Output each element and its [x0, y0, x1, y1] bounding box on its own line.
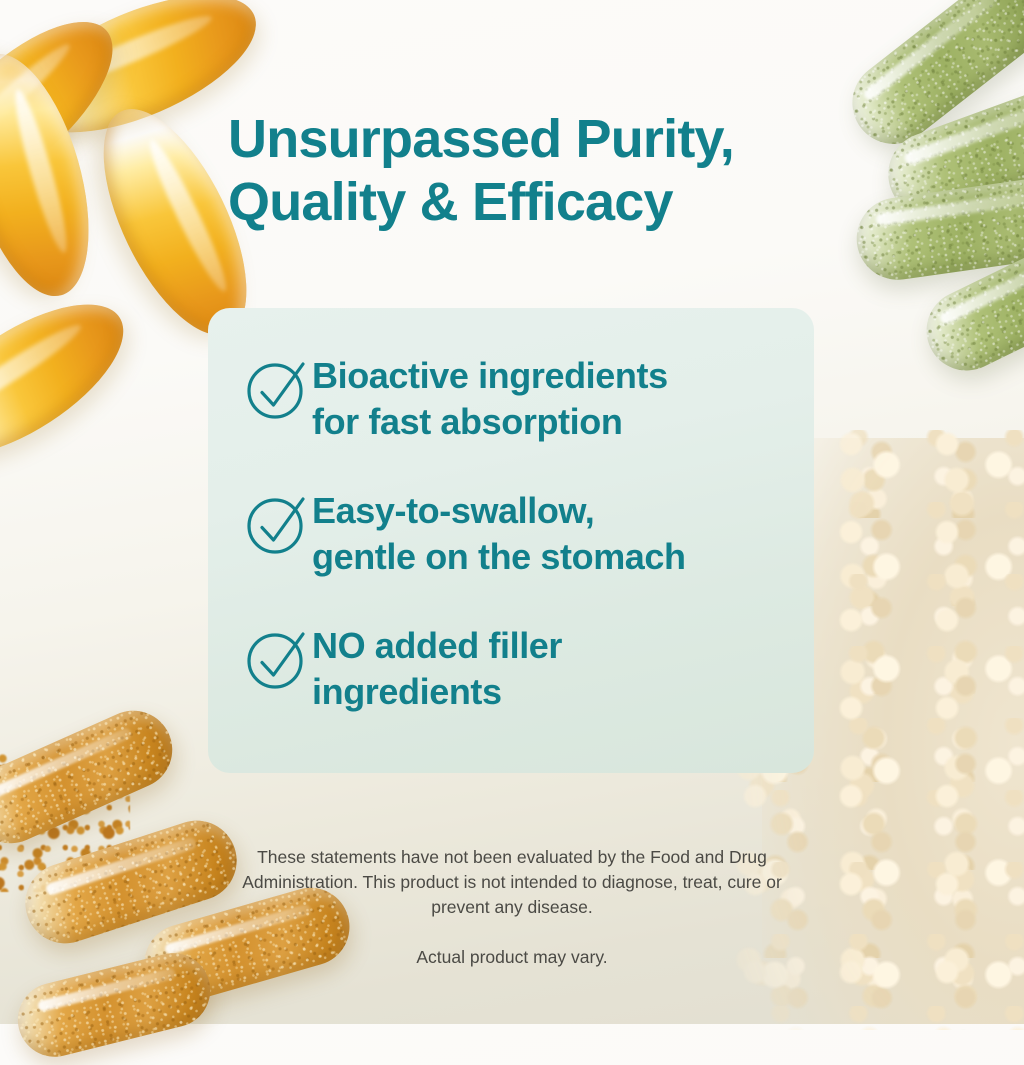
list-item: Bioactive ingredients for fast absorptio…: [246, 352, 806, 445]
circle-check-icon: [246, 358, 312, 422]
fish-oil-softgel: [0, 0, 140, 223]
benefit-3-line-1: NO added filler: [312, 625, 562, 666]
list-item-label: NO added filler ingredients: [312, 622, 562, 715]
benefit-3-line-2: ingredients: [312, 671, 502, 712]
circle-check-icon: [246, 628, 312, 692]
green-herbal-capsule: [836, 0, 1024, 160]
benefit-2-line-1: Easy-to-swallow,: [312, 490, 594, 531]
fda-disclaimer-text: These statements have not been evaluated…: [212, 845, 812, 920]
page-title: Unsurpassed Purity, Quality & Efficacy: [228, 108, 828, 234]
fish-oil-softgel: [0, 275, 147, 484]
fish-oil-softgel: [0, 40, 112, 310]
product-variance-note: Actual product may vary.: [212, 945, 812, 970]
benefit-1-line-2: for fast absorption: [312, 401, 622, 442]
circle-check-icon: [246, 493, 312, 557]
headline-line-1: Unsurpassed Purity,: [228, 109, 734, 169]
benefit-2-line-2: gentle on the stomach: [312, 536, 686, 577]
turmeric-capsule: [0, 698, 185, 855]
list-item-label: Bioactive ingredients for fast absorptio…: [312, 352, 668, 445]
disclaimer: These statements have not been evaluated…: [212, 845, 812, 970]
benefit-1-line-1: Bioactive ingredients: [312, 355, 668, 396]
list-item: NO added filler ingredients: [246, 622, 806, 715]
benefits-list: Bioactive ingredients for fast absorptio…: [246, 352, 806, 715]
list-item: Easy-to-swallow, gentle on the stomach: [246, 487, 806, 580]
green-herbal-capsule: [876, 72, 1024, 228]
turmeric-capsule: [10, 945, 218, 1064]
spilled-turmeric-powder: [0, 752, 130, 892]
list-item-label: Easy-to-swallow, gentle on the stomach: [312, 487, 686, 580]
green-herbal-capsule: [851, 173, 1024, 285]
green-herbal-capsule: [913, 220, 1024, 384]
headline-line-2: Quality & Efficacy: [228, 172, 673, 232]
